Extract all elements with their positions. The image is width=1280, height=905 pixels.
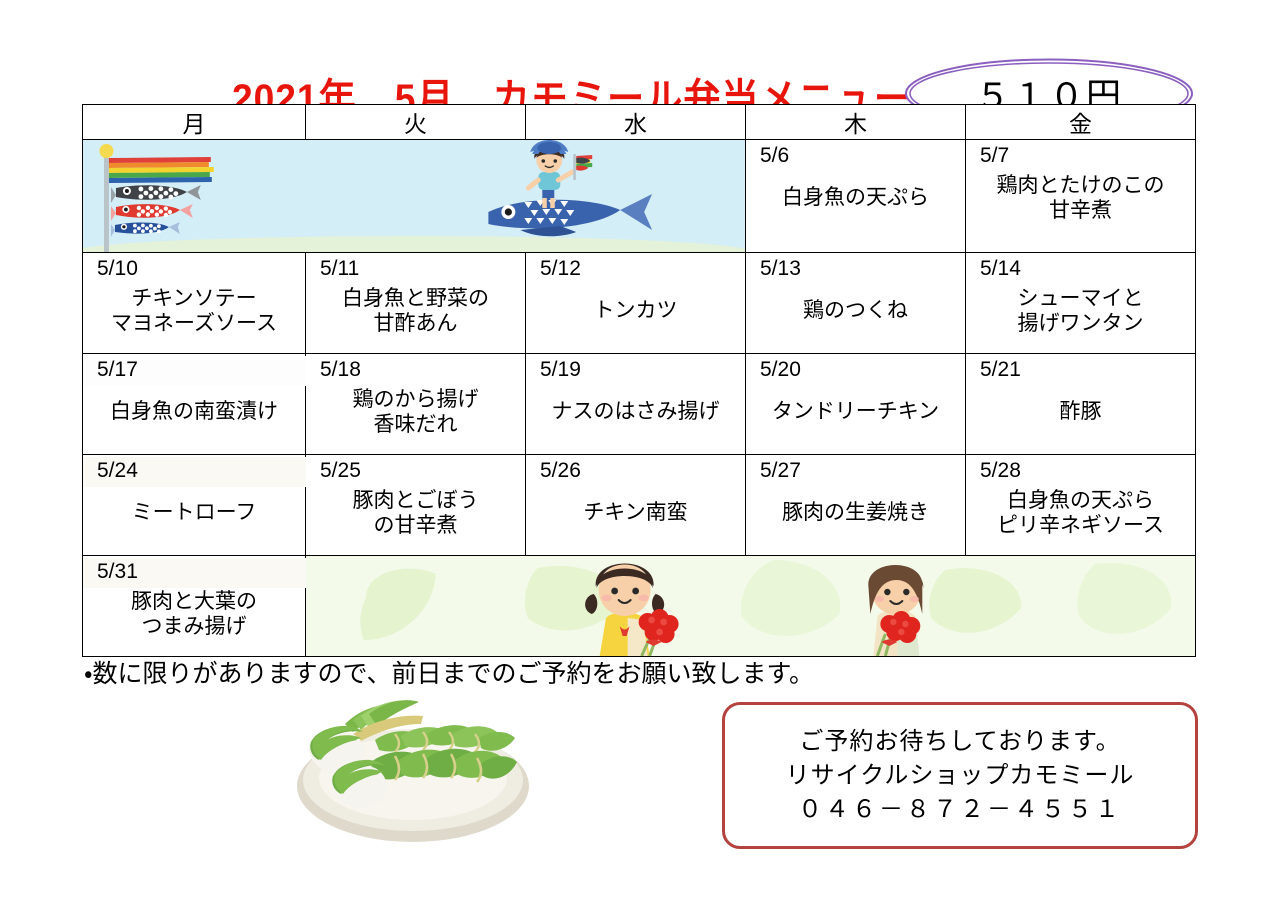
calendar-day-cell: 5/18 鶏のから揚げ 香味だれ — [306, 354, 526, 455]
dish-label: チキンソテー マヨネーズソース — [83, 286, 305, 336]
date-label: 5/7 — [980, 143, 1009, 169]
contact-line-shop-name: リサイクルショップカモミール — [786, 760, 1135, 792]
dish-label: 白身魚の南蛮漬け — [83, 399, 305, 424]
weekday-header-tue: 火 — [306, 105, 526, 140]
calendar-day-cell: 5/17 白身魚の南蛮漬け — [83, 354, 306, 455]
dish-label: ナスのはさみ揚げ — [526, 399, 745, 424]
dish-label: 豚肉と大葉の つまみ揚げ — [83, 589, 305, 639]
weekday-header-row: 月 火 水 木 金 — [83, 105, 1196, 140]
calendar-day-cell: 5/31 豚肉と大葉の つまみ揚げ — [83, 556, 306, 657]
date-label: 5/14 — [980, 256, 1021, 282]
calendar-week-row: 5/10 チキンソテー マヨネーズソース 5/11 白身魚と野菜の 甘酢あん 5… — [83, 253, 1196, 354]
contact-line-reservation: ご予約お待ちしております。 — [799, 726, 1120, 758]
date-label: 5/18 — [320, 357, 361, 383]
calendar-day-cell: 5/28 白身魚の天ぷら ピリ辛ネギソース — [966, 455, 1196, 556]
date-label: 5/13 — [760, 256, 801, 282]
calendar-week-row: 5/24 ミートローフ 5/25 豚肉とごぼう の甘辛煮 5/26 チキン南蛮 … — [83, 455, 1196, 556]
date-label: 5/6 — [760, 143, 789, 169]
dish-label: チキン南蛮 — [526, 500, 745, 525]
date-label: 5/26 — [540, 458, 581, 484]
header-row: 2021年 5月 カモミール弁当メニュー ５１０円 — [0, 30, 1280, 100]
date-label: 5/27 — [760, 458, 801, 484]
dish-label: トンカツ — [526, 298, 745, 323]
dish-label: 鶏肉とたけのこの 甘辛煮 — [966, 173, 1195, 223]
date-label: 5/28 — [980, 458, 1021, 484]
date-label: 5/25 — [320, 458, 361, 484]
calendar-day-cell: 5/12 トンカツ — [526, 253, 746, 354]
calendar-day-cell: 5/13 鶏のつくね — [746, 253, 966, 354]
date-label: 5/31 — [97, 559, 138, 585]
menu-calendar-table: 月 火 水 木 金 — [82, 104, 1196, 657]
date-label: 5/19 — [540, 357, 581, 383]
calendar-day-cell: 5/7 鶏肉とたけのこの 甘辛煮 — [966, 140, 1196, 253]
availability-note: ・数に限りがありますので、前日までのご予約をお願い致します。 — [84, 654, 814, 690]
koinobori-art — [83, 140, 745, 252]
weekday-header-wed: 水 — [526, 105, 746, 140]
dish-label: 豚肉とごぼう の甘辛煮 — [306, 488, 525, 538]
date-label: 5/17 — [97, 357, 138, 383]
calendar-day-cell: 5/10 チキンソテー マヨネーズソース — [83, 253, 306, 354]
mothers-day-art — [306, 556, 1195, 656]
calendar-day-cell: 5/19 ナスのはさみ揚げ — [526, 354, 746, 455]
koinobori-childrens-day-illustration — [83, 140, 746, 253]
weekday-header-fri: 金 — [966, 105, 1196, 140]
contact-line-phone: ０４６－８７２－４５５１ — [798, 794, 1122, 826]
contact-box: ご予約お待ちしております。 リサイクルショップカモミール ０４６－８７２－４５５… — [722, 702, 1198, 849]
date-label: 5/10 — [97, 256, 138, 282]
calendar-day-cell: 5/24 ミートローフ — [83, 455, 306, 556]
calendar-week-row: 5/17 白身魚の南蛮漬け 5/18 鶏のから揚げ 香味だれ 5/19 ナスのは… — [83, 354, 1196, 455]
dish-label: シューマイと 揚げワンタン — [966, 286, 1195, 336]
weekday-header-thu: 木 — [746, 105, 966, 140]
chimaki-rolls — [371, 725, 517, 782]
dish-label: 白身魚の天ぷら — [746, 185, 965, 210]
dish-label: 白身魚の天ぷら ピリ辛ネギソース — [966, 488, 1195, 538]
dish-label: 鶏のつくね — [746, 298, 965, 323]
kashiwamochi-chimaki-plate-illustration — [283, 690, 543, 850]
dish-label: 鶏のから揚げ 香味だれ — [306, 387, 525, 437]
calendar-week-row: 5/6 白身魚の天ぷら 5/7 鶏肉とたけのこの 甘辛煮 — [83, 140, 1196, 253]
calendar-day-cell: 5/26 チキン南蛮 — [526, 455, 746, 556]
calendar-day-cell: 5/27 豚肉の生姜焼き — [746, 455, 966, 556]
calendar-day-cell: 5/6 白身魚の天ぷら — [746, 140, 966, 253]
calendar-day-cell: 5/20 タンドリーチキン — [746, 354, 966, 455]
calendar-day-cell: 5/25 豚肉とごぼう の甘辛煮 — [306, 455, 526, 556]
rainbow-streamer — [109, 157, 214, 183]
sweets-art — [283, 690, 543, 850]
dish-label: 酢豚 — [966, 399, 1195, 424]
mothers-day-carnation-girls-illustration — [306, 556, 1196, 657]
date-label: 5/24 — [97, 458, 138, 484]
calendar-day-cell: 5/11 白身魚と野菜の 甘酢あん — [306, 253, 526, 354]
dish-label: タンドリーチキン — [746, 399, 965, 424]
calendar-day-cell: 5/21 酢豚 — [966, 354, 1196, 455]
date-label: 5/11 — [320, 256, 359, 282]
weekday-header-mon: 月 — [83, 105, 306, 140]
date-label: 5/20 — [760, 357, 801, 383]
date-label: 5/12 — [540, 256, 581, 282]
dish-label: 豚肉の生姜焼き — [746, 500, 965, 525]
dish-label: 白身魚と野菜の 甘酢あん — [306, 286, 525, 336]
calendar-week-row: 5/31 豚肉と大葉の つまみ揚げ — [83, 556, 1196, 657]
calendar-day-cell: 5/14 シューマイと 揚げワンタン — [966, 253, 1196, 354]
date-label: 5/21 — [980, 357, 1021, 383]
dish-label: ミートローフ — [83, 500, 305, 525]
